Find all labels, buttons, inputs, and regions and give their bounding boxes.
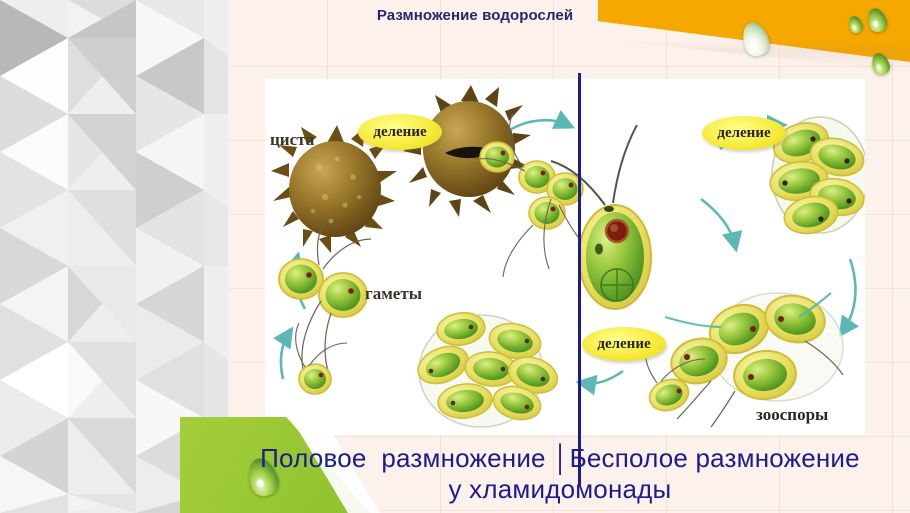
label-division-right: деление [702, 116, 786, 150]
chlamydomonas-cell [551, 125, 651, 309]
label-division-middle-text: деление [597, 336, 650, 353]
diagram-panel: циста гаметы зооспоры деление деление де… [265, 79, 865, 435]
label-gametes: гаметы [365, 284, 422, 304]
single-gamete [296, 323, 347, 394]
label-division-left-text: деление [373, 124, 426, 141]
page-title: Размножение водорослей [265, 7, 685, 24]
cyst-dividing-organism [403, 85, 531, 217]
label-zoospores: зооспоры [756, 405, 828, 425]
section-divider [578, 73, 581, 485]
bottom-caption: Половое размножение │Бесполое размножени… [230, 443, 890, 505]
caption-line-2: у хламидомонады [230, 474, 890, 505]
label-division-left: деление [358, 114, 442, 150]
zygote-colony [413, 310, 563, 427]
slide-root: Размножение водорослей [0, 0, 910, 513]
label-division-right-text: деление [717, 125, 770, 142]
label-cyst: циста [270, 130, 314, 150]
caption-line-1: Половое размножение │Бесполое размножени… [230, 443, 890, 474]
label-division-middle: деление [582, 327, 666, 361]
